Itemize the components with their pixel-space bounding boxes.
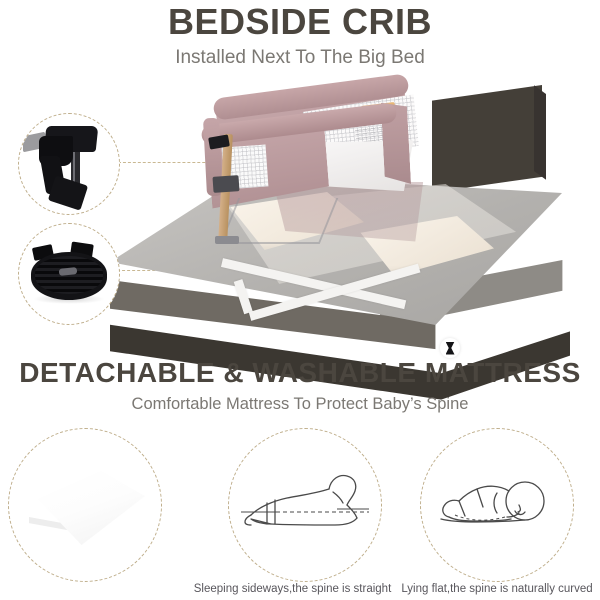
circle-sleeping-sideways — [228, 428, 382, 582]
baby-flat-icon — [421, 429, 573, 581]
strap-illustration — [19, 224, 119, 324]
section2-title: DETACHABLE & WASHABLE MATTRESS — [0, 357, 600, 389]
caption-sleeping-sideways: Sleeping sideways,the spine is straight — [190, 583, 395, 595]
strap-buckle-icon — [440, 338, 460, 358]
circle-lying-flat — [420, 428, 574, 582]
buckle-glyph — [446, 342, 455, 355]
strap-coil-windings — [35, 256, 103, 294]
bedside-crib-scene — [0, 80, 600, 345]
clamp-bottom-jaw — [48, 175, 88, 210]
infographic-page: BEDSIDE CRIB Installed Next To The Big B… — [0, 0, 600, 600]
section1-title: BEDSIDE CRIB — [0, 2, 600, 42]
crib-foot — [215, 236, 239, 244]
mattress-top-face — [23, 471, 145, 545]
bed-headboard — [432, 85, 542, 197]
caption-lying-flat: Lying flat,the spine is naturally curved — [392, 583, 600, 595]
section1-subtitle: Installed Next To The Big Bed — [0, 47, 600, 69]
section2-subtitle: Comfortable Mattress To Protect Baby’s S… — [0, 394, 600, 414]
circle-mattress — [8, 428, 162, 582]
bedside-crib — [195, 80, 425, 250]
callout-fastening-strap — [18, 223, 120, 325]
callout-mounting-clamp — [18, 113, 120, 215]
clamp-illustration — [19, 114, 119, 214]
baby-sideways-icon — [229, 429, 381, 581]
crib-lower-clamp — [212, 175, 239, 193]
